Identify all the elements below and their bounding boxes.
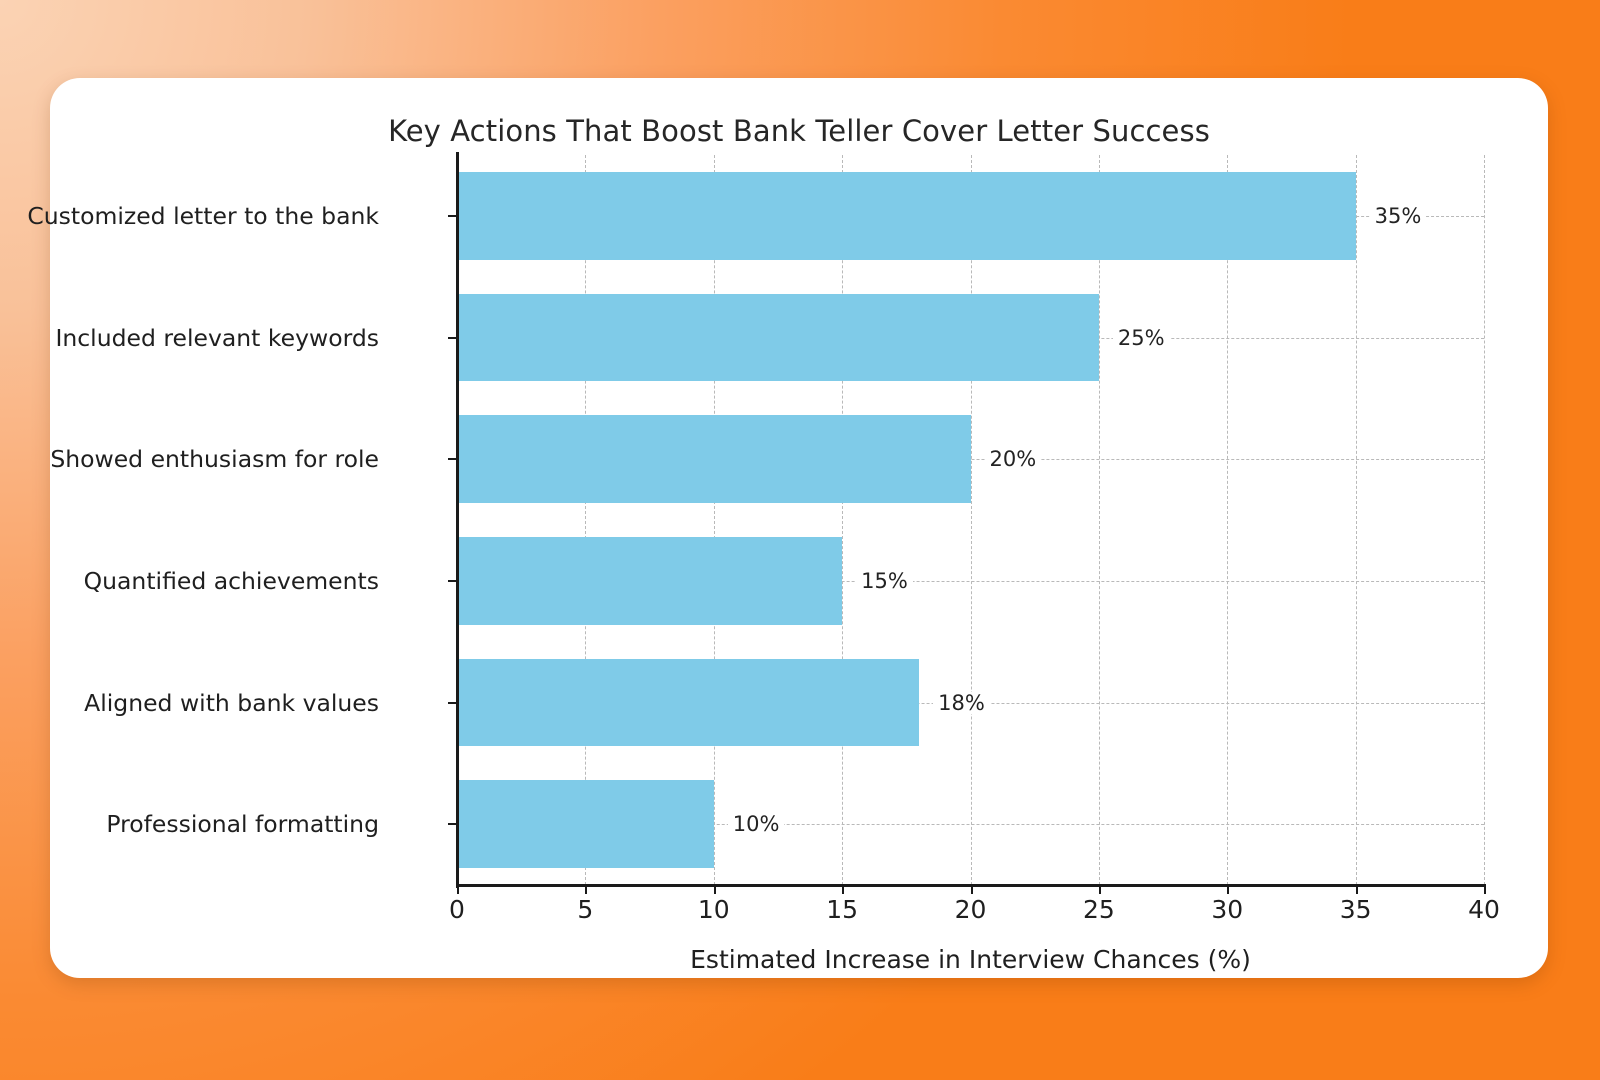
bar — [457, 415, 971, 503]
bar-value-label: 35% — [1370, 205, 1427, 227]
bar-value-label: 10% — [728, 813, 785, 835]
bar — [457, 780, 714, 868]
plot-area: 35%25%20%15%18%10% Customized letter to … — [457, 155, 1484, 885]
y-axis-category-label: Showed enthusiasm for role — [50, 445, 379, 473]
chart-title: Key Actions That Boost Bank Teller Cover… — [50, 114, 1548, 148]
bar-value-label: 18% — [933, 691, 990, 713]
bar — [457, 537, 842, 625]
bar — [457, 172, 1356, 260]
chart-card: Key Actions That Boost Bank Teller Cover… — [50, 78, 1548, 978]
x-axis-tick-label: 5 — [577, 895, 593, 924]
bar — [457, 659, 919, 747]
bar — [457, 294, 1099, 382]
x-axis-tick-label: 10 — [698, 895, 730, 924]
x-axis-tick-label: 15 — [826, 895, 858, 924]
bar-value-label: 25% — [1113, 326, 1170, 348]
x-axis-tick-label: 40 — [1468, 895, 1500, 924]
bar-value-label: 15% — [856, 570, 913, 592]
y-axis-category-label: Included relevant keywords — [55, 324, 379, 352]
x-axis-spine — [456, 884, 1486, 887]
x-axis-tick-label: 30 — [1211, 895, 1243, 924]
x-axis-title: Estimated Increase in Interview Chances … — [457, 945, 1484, 974]
bar-value-label: 20% — [985, 448, 1042, 470]
y-axis-category-label: Professional formatting — [106, 810, 379, 838]
vertical-gridline — [1484, 155, 1485, 885]
x-axis-tick-label: 20 — [955, 895, 987, 924]
y-axis-category-label: Customized letter to the bank — [27, 202, 379, 230]
x-axis-tick-label: 0 — [449, 895, 465, 924]
y-axis-category-label: Quantified achievements — [84, 567, 379, 595]
y-axis-category-label: Aligned with bank values — [84, 689, 379, 717]
x-axis-tick-label: 35 — [1340, 895, 1372, 924]
y-axis-spine — [456, 152, 459, 888]
x-axis-tick-label: 25 — [1083, 895, 1115, 924]
bar-chart-figure: Key Actions That Boost Bank Teller Cover… — [50, 78, 1548, 978]
bars-layer: 35%25%20%15%18%10% — [457, 155, 1484, 885]
